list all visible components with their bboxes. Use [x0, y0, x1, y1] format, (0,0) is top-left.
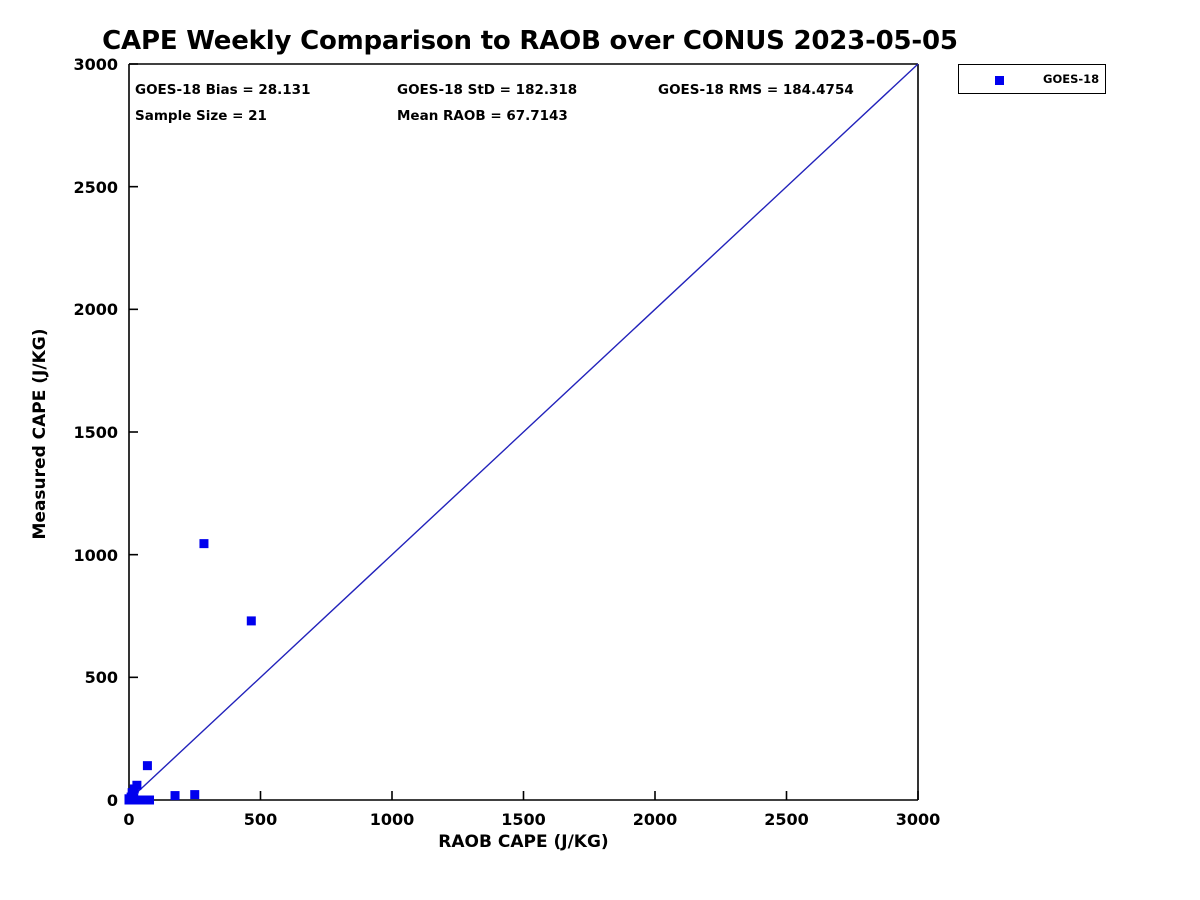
scatter-points [125, 539, 256, 804]
scatter-point [143, 761, 152, 770]
y-tick-label: 3000 [28, 55, 118, 74]
scatter-point [145, 796, 154, 805]
plot-area [0, 0, 1200, 900]
y-tick-label: 1000 [28, 546, 118, 565]
y-tick-label: 2500 [28, 178, 118, 197]
y-tick-label: 0 [28, 791, 118, 810]
y-tick-label: 1500 [28, 423, 118, 442]
scatter-point [190, 790, 199, 799]
legend: GOES-18 [958, 64, 1106, 94]
scatter-point [199, 539, 208, 548]
x-tick-label: 500 [216, 810, 306, 829]
chart-canvas: CAPE Weekly Comparison to RAOB over CONU… [0, 0, 1200, 900]
x-tick-label: 1500 [479, 810, 569, 829]
x-tick-label: 0 [84, 810, 174, 829]
y-tick-label: 2000 [28, 300, 118, 319]
x-tick-label: 3000 [873, 810, 963, 829]
y-tick-label: 500 [28, 668, 118, 687]
one-to-one-reference-line [129, 64, 918, 800]
scatter-point [132, 781, 141, 790]
scatter-point [171, 791, 180, 800]
scatter-point [247, 616, 256, 625]
x-tick-label: 2500 [742, 810, 832, 829]
scatter-point [136, 796, 145, 805]
x-tick-label: 1000 [347, 810, 437, 829]
legend-label-goes18: GOES-18 [1043, 72, 1099, 86]
x-tick-label: 2000 [610, 810, 700, 829]
legend-swatch-goes18 [995, 76, 1004, 85]
